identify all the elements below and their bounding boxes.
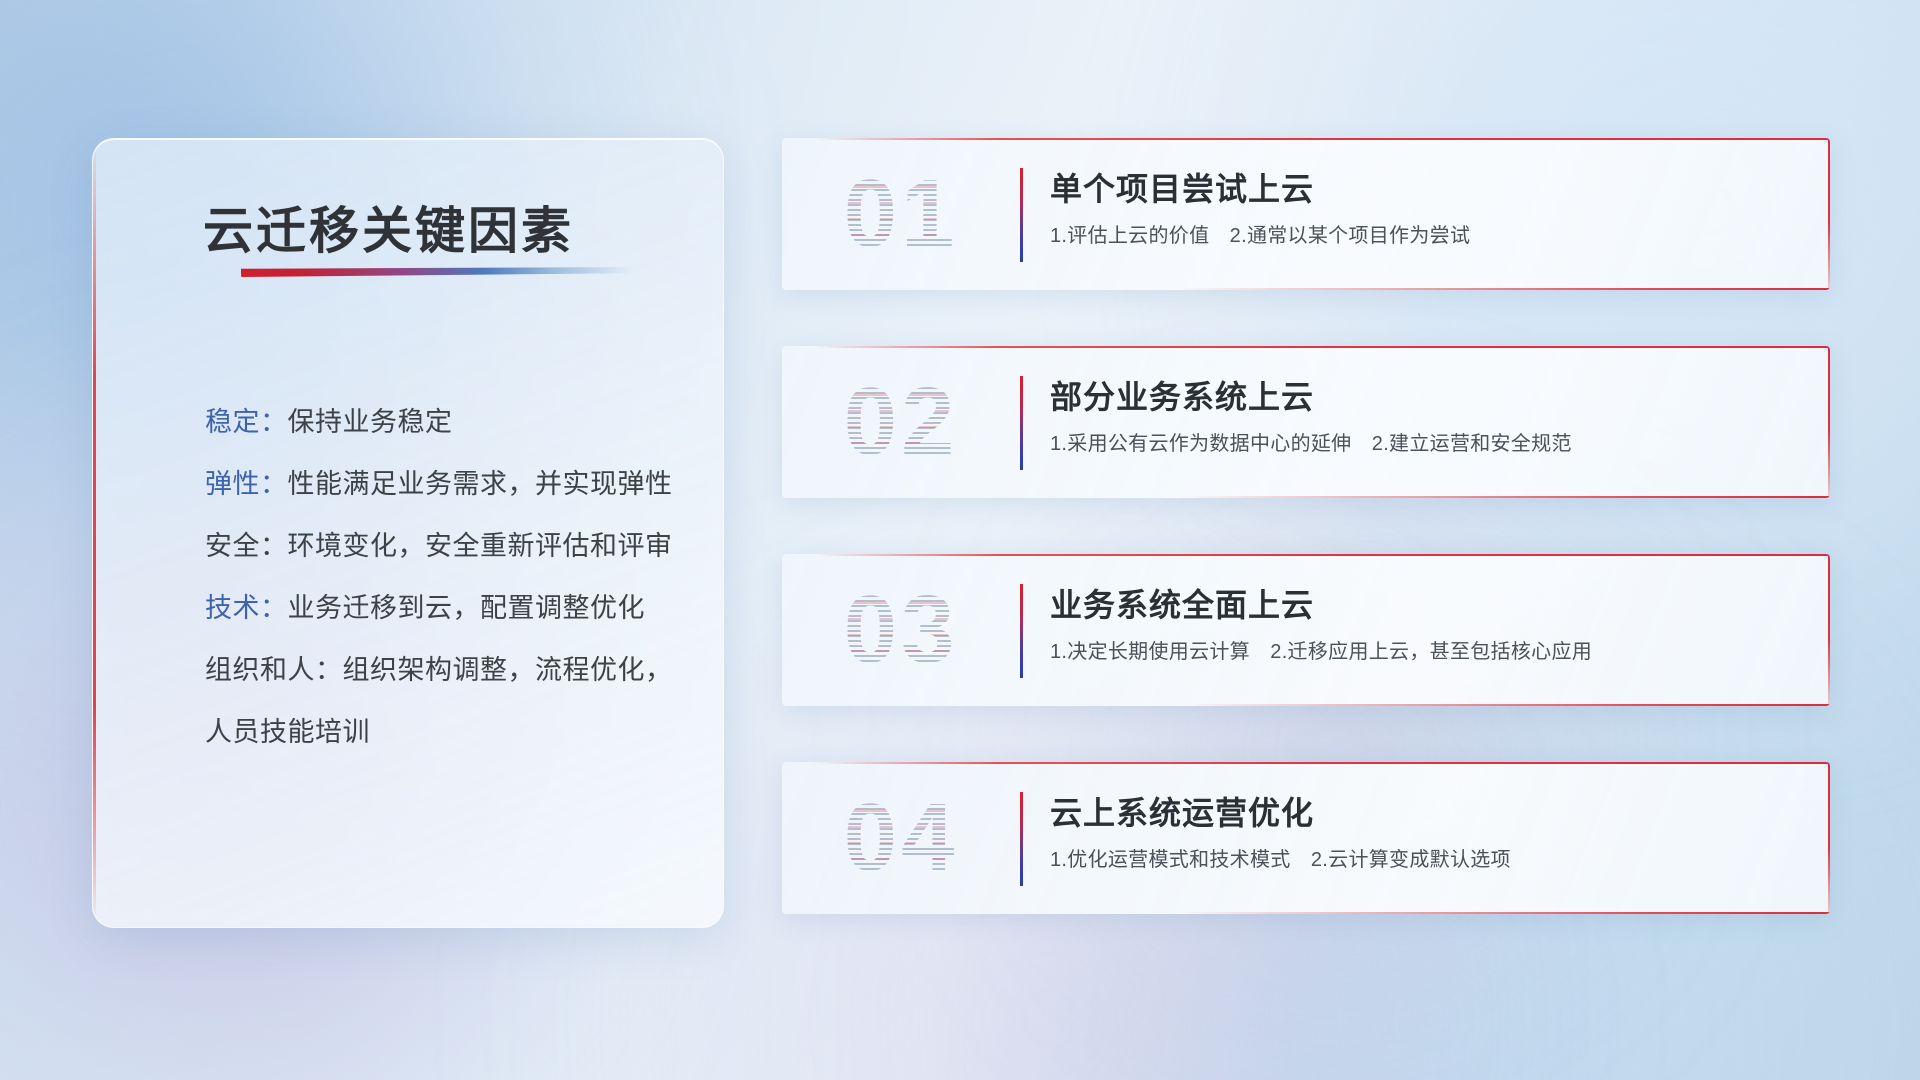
card-accent-bottom	[1180, 912, 1830, 914]
stage-card-04[interactable]: 04 04 云上系统运营优化 1.优化运营模式和技术模式 2.云计算变成默认选项	[782, 762, 1830, 914]
card-body: 业务系统全面上云 1.决定长期使用云计算 2.迁移应用上云，甚至包括核心应用	[1050, 582, 1804, 666]
page-title: 云迁移关键因素	[203, 191, 574, 263]
key-factors-list: 稳定：保持业务稳定 弹性：性能满足业务需求，并实现弹性 安全：环境变化，安全重新…	[205, 391, 695, 763]
card-body: 单个项目尝试上云 1.评估上云的价值 2.通常以某个项目作为尝试	[1050, 166, 1804, 250]
stage-card-01[interactable]: 01 01 单个项目尝试上云 1.评估上云的价值 2.通常以某个项目作为尝试	[782, 138, 1830, 290]
factor-key: 组织和人：	[205, 655, 343, 685]
card-title: 业务系统全面上云	[1050, 582, 1804, 628]
factor-value: 保持业务稳定	[288, 407, 453, 437]
factor-key: 弹性：	[205, 469, 288, 499]
card-accent-bottom	[1180, 288, 1830, 290]
factor-row: 稳定：保持业务稳定	[205, 391, 695, 453]
card-accent-right	[1828, 138, 1830, 290]
factor-row: 弹性：性能满足业务需求，并实现弹性	[205, 453, 695, 515]
card-subtitle: 1.优化运营模式和技术模式 2.云计算变成默认选项	[1050, 846, 1804, 874]
card-divider-bar	[1020, 168, 1023, 262]
factor-key: 安全：	[205, 531, 288, 561]
factor-value: 性能满足业务需求，并实现弹性	[288, 469, 673, 499]
card-accent-right	[1828, 762, 1830, 914]
stage-cards-list: 01 01 单个项目尝试上云 1.评估上云的价值 2.通常以某个项目作为尝试 0…	[782, 138, 1830, 914]
card-accent-top	[816, 762, 1830, 764]
factor-value: 人员技能培训	[205, 717, 370, 747]
card-title: 云上系统运营优化	[1050, 790, 1804, 836]
factor-value: 组织架构调整，流程优化，	[343, 655, 673, 685]
card-accent-top	[816, 554, 1830, 556]
card-divider-bar	[1020, 376, 1023, 470]
card-body: 部分业务系统上云 1.采用公有云作为数据中心的延伸 2.建立运营和安全规范	[1050, 374, 1804, 458]
card-number-watermark-tint: 03	[812, 570, 990, 690]
card-body: 云上系统运营优化 1.优化运营模式和技术模式 2.云计算变成默认选项	[1050, 790, 1804, 874]
card-number-watermark-tint: 02	[812, 362, 990, 482]
factor-value: 环境变化，安全重新评估和评审	[288, 531, 673, 561]
card-accent-bottom	[1180, 704, 1830, 706]
factor-row: 人员技能培训	[205, 701, 695, 763]
factor-row: 技术：业务迁移到云，配置调整优化	[205, 577, 695, 639]
card-subtitle: 1.决定长期使用云计算 2.迁移应用上云，甚至包括核心应用	[1050, 638, 1804, 666]
card-divider-bar	[1020, 584, 1023, 678]
factor-key: 技术：	[205, 593, 288, 623]
title-underline-accent	[241, 267, 633, 277]
card-title: 单个项目尝试上云	[1050, 166, 1804, 212]
factor-row: 安全：环境变化，安全重新评估和评审	[205, 515, 695, 577]
card-subtitle: 1.评估上云的价值 2.通常以某个项目作为尝试	[1050, 222, 1804, 250]
stage-card-03[interactable]: 03 03 业务系统全面上云 1.决定长期使用云计算 2.迁移应用上云，甚至包括…	[782, 554, 1830, 706]
factor-row: 组织和人：组织架构调整，流程优化，	[205, 639, 695, 701]
card-accent-top	[816, 346, 1830, 348]
card-title: 部分业务系统上云	[1050, 374, 1804, 420]
card-subtitle: 1.采用公有云作为数据中心的延伸 2.建立运营和安全规范	[1050, 430, 1804, 458]
key-factors-panel: 云迁移关键因素 稳定：保持业务稳定 弹性：性能满足业务需求，并实现弹性 安全：环…	[92, 138, 724, 928]
card-accent-right	[1828, 346, 1830, 498]
card-number-watermark-tint: 04	[812, 778, 990, 898]
card-accent-bottom	[1180, 496, 1830, 498]
card-divider-bar	[1020, 792, 1023, 886]
card-accent-top	[816, 138, 1830, 140]
stage-card-02[interactable]: 02 02 部分业务系统上云 1.采用公有云作为数据中心的延伸 2.建立运营和安…	[782, 346, 1830, 498]
factor-key: 稳定：	[205, 407, 288, 437]
card-number-watermark-tint: 01	[812, 154, 990, 274]
card-accent-right	[1828, 554, 1830, 706]
factor-value: 业务迁移到云，配置调整优化	[288, 593, 646, 623]
